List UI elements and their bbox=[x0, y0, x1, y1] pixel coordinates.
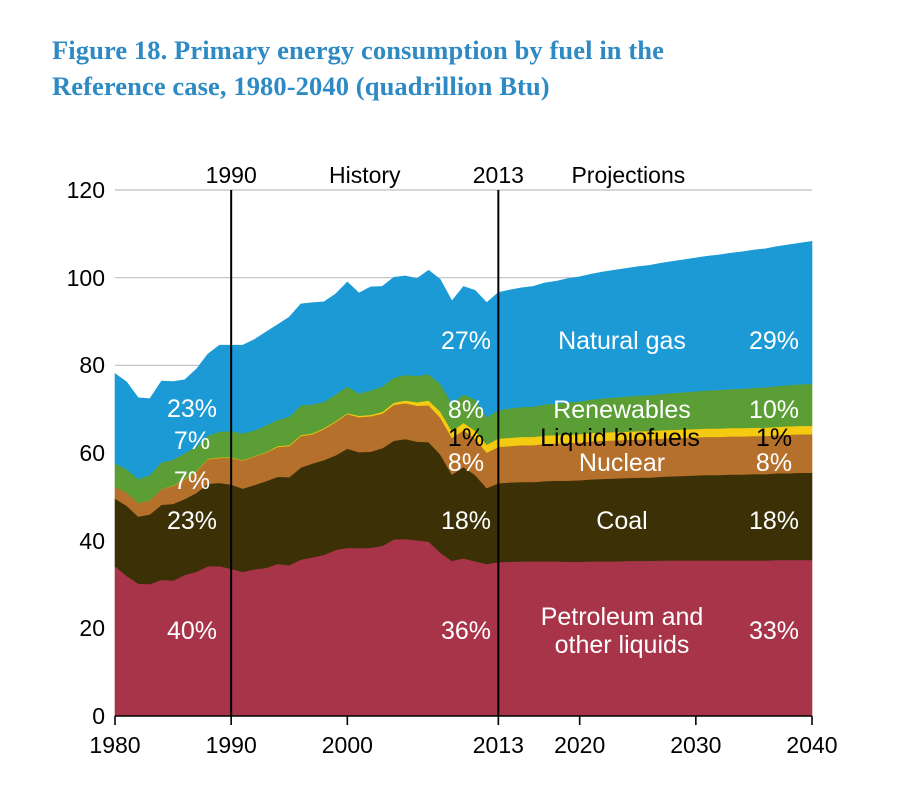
stacked-area-chart: 0204060801001201980199020002013202020302… bbox=[0, 0, 900, 800]
annotation-projections: Projections bbox=[571, 162, 685, 189]
series-label-nuclear: Nuclear bbox=[579, 449, 665, 477]
pct-petroleum-2040: 33% bbox=[749, 617, 799, 645]
pct-renewables-2013: 8% bbox=[448, 396, 484, 424]
pct-natural-gas-2040: 29% bbox=[749, 327, 799, 355]
x-axis-tick-label: 1990 bbox=[206, 732, 257, 759]
pct-renewables-2040: 10% bbox=[749, 396, 799, 424]
x-axis-tick-label: 2013 bbox=[473, 732, 524, 759]
pct-petroleum-2013: 36% bbox=[441, 617, 491, 645]
pct-coal-1980: 23% bbox=[167, 507, 217, 535]
pct-natural-gas-2013: 27% bbox=[441, 327, 491, 355]
pct-liquid-biofuels-2013: 1% bbox=[448, 424, 484, 452]
y-axis-tick-label: 100 bbox=[43, 265, 105, 292]
y-axis-tick-label: 60 bbox=[43, 440, 105, 467]
y-axis-tick-label: 20 bbox=[43, 615, 105, 642]
annotation-history: History bbox=[329, 162, 401, 189]
x-axis-tick-label: 2040 bbox=[786, 732, 837, 759]
pct-natural-gas-1980: 23% bbox=[167, 395, 217, 423]
pct-petroleum-1980: 40% bbox=[167, 617, 217, 645]
pct-nuclear-1980: 7% bbox=[174, 467, 210, 495]
x-axis-tick-label: 2030 bbox=[670, 732, 721, 759]
series-label-petroleum-and-other-liquids: Petroleum and other liquids bbox=[527, 603, 717, 659]
x-axis-tick-label: 1980 bbox=[89, 732, 140, 759]
annotation-1990: 1990 bbox=[206, 162, 257, 189]
pct-coal-2040: 18% bbox=[749, 507, 799, 535]
pct-renewables-1980: 7% bbox=[174, 427, 210, 455]
y-axis-tick-label: 0 bbox=[43, 703, 105, 730]
pct-nuclear-2013: 8% bbox=[448, 449, 484, 477]
y-axis-tick-label: 80 bbox=[43, 352, 105, 379]
series-label-natural-gas: Natural gas bbox=[558, 327, 686, 355]
pct-liquid-biofuels-2040: 1% bbox=[756, 424, 792, 452]
figure-root: Figure 18. Primary energy consumption by… bbox=[0, 0, 900, 800]
y-axis-tick-label: 120 bbox=[43, 177, 105, 204]
series-label-coal: Coal bbox=[596, 507, 647, 535]
series-label-liquid-biofuels: Liquid biofuels bbox=[540, 424, 700, 452]
x-axis-tick-label: 2000 bbox=[322, 732, 373, 759]
pct-nuclear-2040: 8% bbox=[756, 449, 792, 477]
x-axis-tick-label: 2020 bbox=[554, 732, 605, 759]
y-axis-tick-label: 40 bbox=[43, 528, 105, 555]
series-label-renewables: Renewables bbox=[553, 396, 691, 424]
pct-coal-2013: 18% bbox=[441, 507, 491, 535]
annotation-2013: 2013 bbox=[473, 162, 524, 189]
